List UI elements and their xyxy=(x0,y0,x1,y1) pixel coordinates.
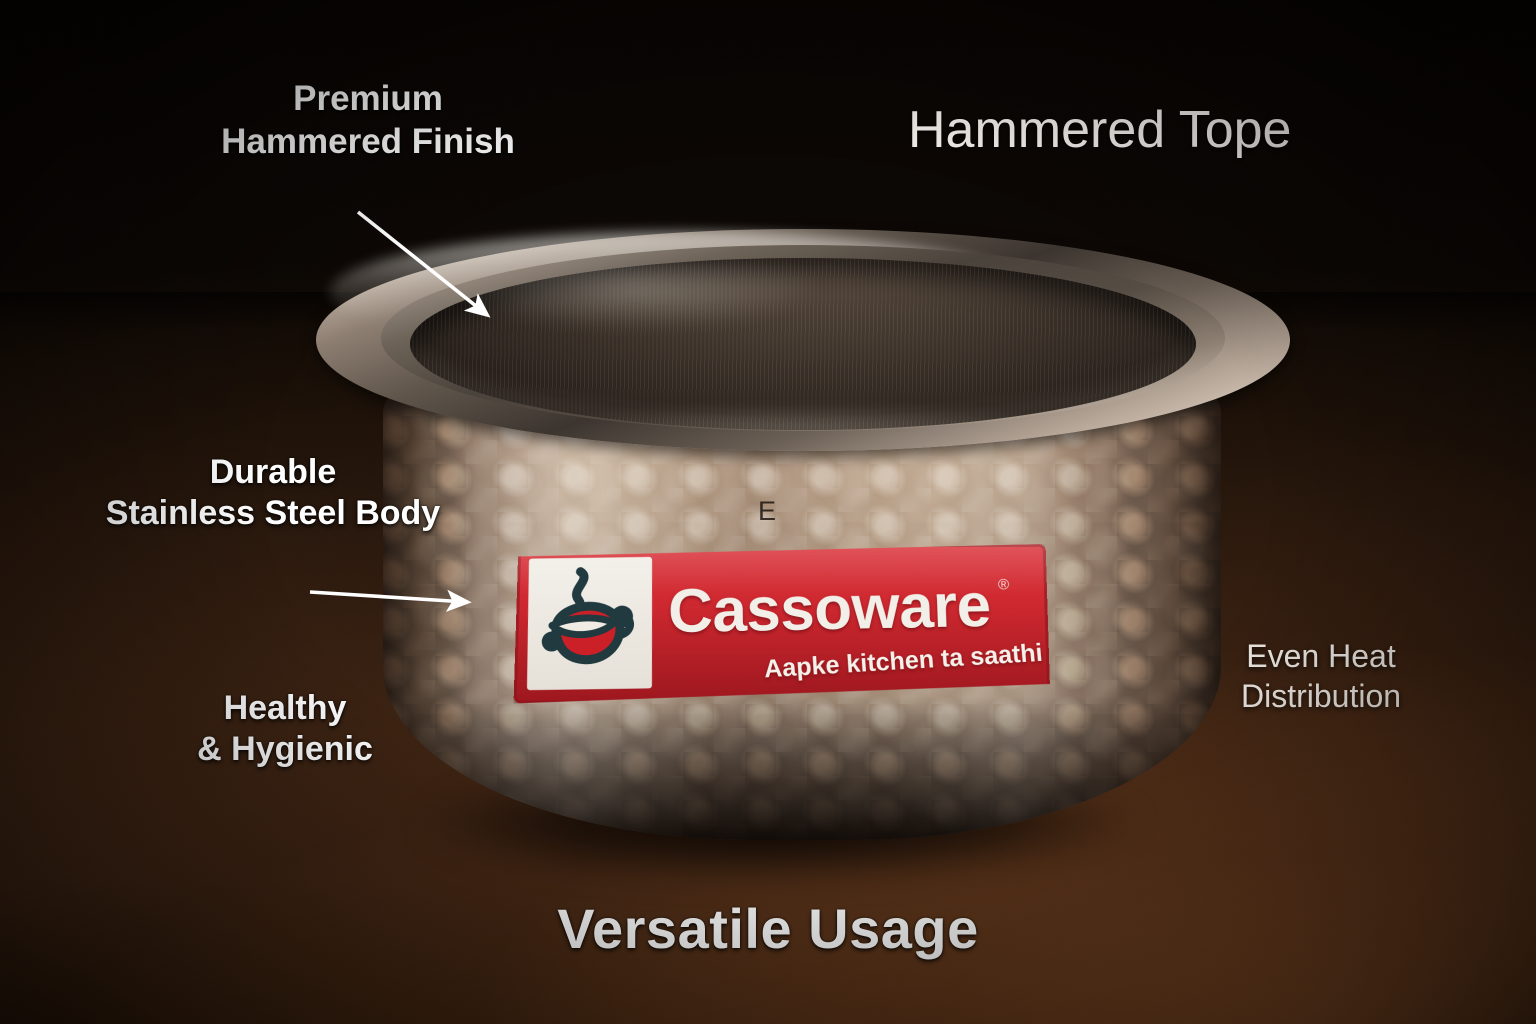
image-vignette xyxy=(0,0,1536,1024)
product-marketing-image: E Cassoware ® Aapke kitchen ta saathi xyxy=(0,0,1536,1024)
